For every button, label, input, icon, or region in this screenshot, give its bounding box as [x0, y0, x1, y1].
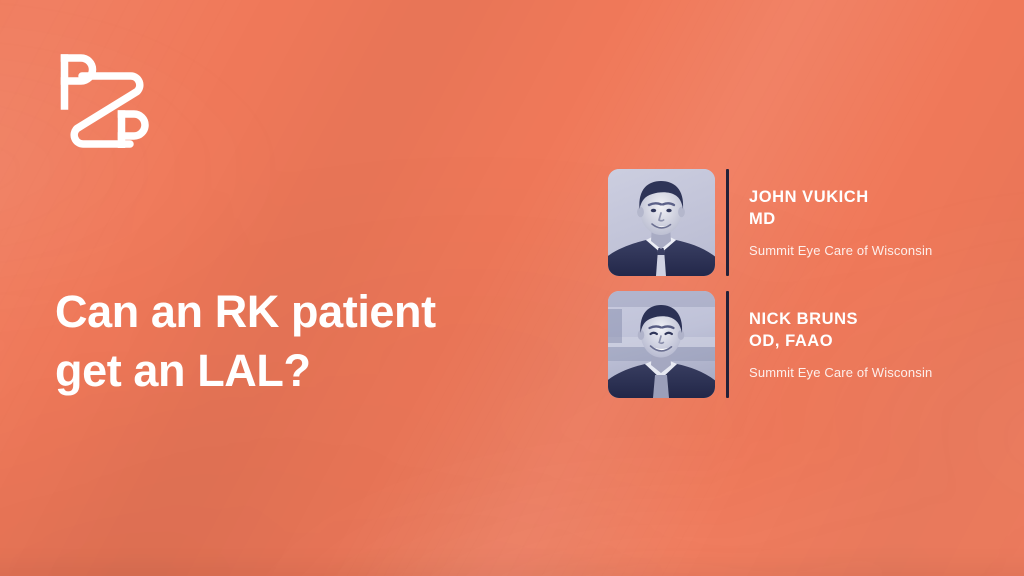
portrait-john-vukich — [608, 169, 715, 276]
headline-line-2: get an LAL? — [55, 342, 575, 401]
speaker-card[interactable]: NICK BRUNS OD, FAAO Summit Eye Care of W… — [608, 291, 932, 398]
slide-canvas: Can an RK patient get an LAL? — [0, 0, 1024, 576]
speaker-name: NICK BRUNS — [749, 309, 932, 330]
speaker-name: JOHN VUKICH — [749, 187, 932, 208]
speaker-credentials: OD, FAAO — [749, 331, 932, 352]
speaker-credentials: MD — [749, 209, 932, 230]
portrait-nick-bruns — [608, 291, 715, 398]
speaker-list: JOHN VUKICH MD Summit Eye Care of Wiscon… — [608, 169, 932, 398]
speaker-divider — [726, 169, 729, 276]
speaker-divider — [726, 291, 729, 398]
speaker-meta: JOHN VUKICH MD Summit Eye Care of Wiscon… — [749, 169, 932, 276]
speaker-organization: Summit Eye Care of Wisconsin — [749, 365, 932, 380]
headline-line-1: Can an RK patient — [55, 283, 575, 342]
speaker-meta: NICK BRUNS OD, FAAO Summit Eye Care of W… — [749, 291, 932, 398]
page-title: Can an RK patient get an LAL? — [55, 283, 575, 400]
speaker-card[interactable]: JOHN VUKICH MD Summit Eye Care of Wiscon… — [608, 169, 932, 276]
speaker-organization: Summit Eye Care of Wisconsin — [749, 243, 932, 258]
pzp-monogram-logo[interactable] — [57, 52, 153, 148]
